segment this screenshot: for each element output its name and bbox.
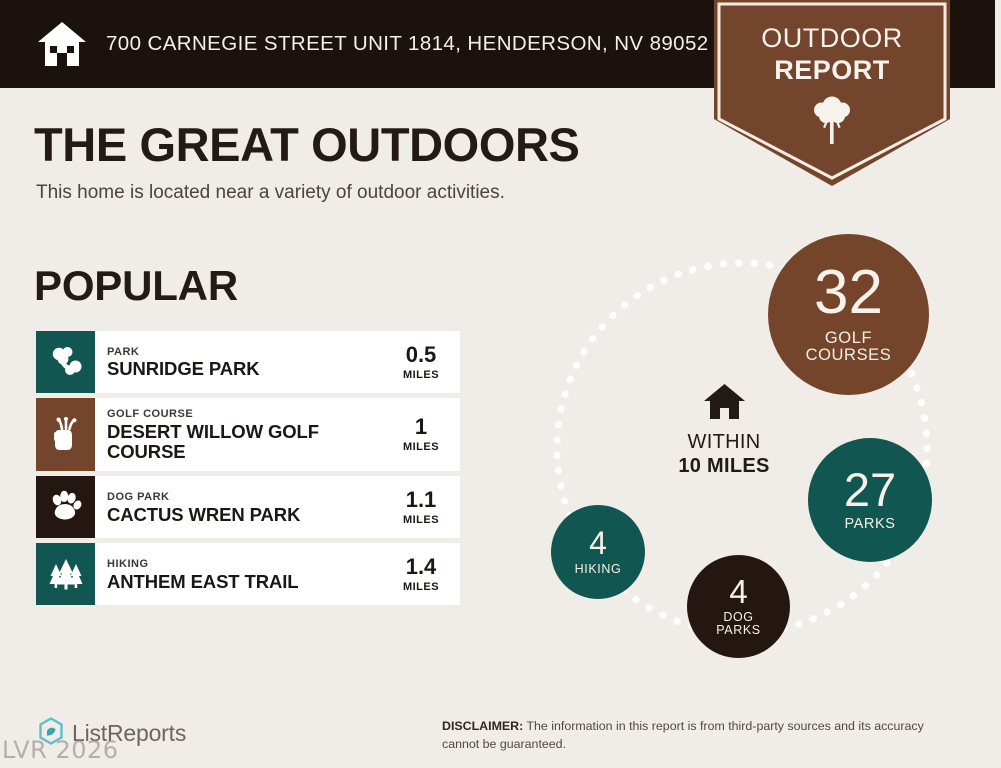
list-item[interactable]: PARK SUNRIDGE PARK 0.5 MILES [36,331,460,393]
list-item-distance: 1 MILES [388,398,460,471]
distance-unit: MILES [403,441,439,453]
bubble-dog-parks[interactable]: 4 DOG PARKS [687,555,790,658]
bubble-label: GOLF COURSES [806,330,892,365]
bubble-label: PARKS [844,517,895,532]
center-line-2: 10 MILES [654,455,794,478]
paw-print-icon [36,476,95,538]
home-icon [703,408,746,425]
popular-list: PARK SUNRIDGE PARK 0.5 MILES [36,331,460,610]
park-tree-icon [36,331,95,393]
distance-value: 1 [415,416,427,438]
bubble-label-line-2: COURSES [806,346,892,364]
distance-unit: MILES [403,369,439,381]
tree-icon [811,132,853,149]
bubble-label: HIKING [575,563,622,576]
list-item-distance: 1.4 MILES [388,543,460,605]
list-item-category: HIKING [107,558,380,571]
list-item-distance: 0.5 MILES [388,331,460,393]
distance-value: 0.5 [406,344,437,366]
page-title: THE GREAT OUTDOORS [34,121,580,168]
center-line-1: WITHIN [654,431,794,454]
disclaimer-label: DISCLAIMER: [442,719,523,733]
page-subtitle: This home is located near a variety of o… [36,182,505,204]
pine-trees-icon [36,543,95,605]
list-item-name: SUNRIDGE PARK [107,359,380,380]
bubble-value: 4 [589,528,607,558]
property-address: 700 CARNEGIE STREET UNIT 1814, HENDERSON… [106,32,709,56]
list-item-category: GOLF COURSE [107,408,380,421]
bubble-label-line-2: PARKS [716,623,760,637]
list-item-category: DOG PARK [107,491,380,504]
home-icon [36,20,88,68]
disclaimer: DISCLAIMER: The information in this repo… [442,718,962,753]
list-item-name: CACTUS WREN PARK [107,505,380,526]
header-content: 700 CARNEGIE STREET UNIT 1814, HENDERSON… [36,0,709,88]
bubble-golf-courses[interactable]: 32 GOLF COURSES [768,234,929,395]
bubble-value: 32 [814,264,883,323]
list-item-distance: 1.1 MILES [388,476,460,538]
watermark: LVR 2026 [2,736,119,764]
outdoor-report-badge: OUTDOOR REPORT [714,0,950,186]
popular-section-heading: POPULAR [34,265,238,307]
bubble-value: 4 [729,576,747,607]
list-item-name: DESERT WILLOW GOLF COURSE [107,422,380,463]
badge-line-1: OUTDOOR [714,23,950,54]
within-10-miles-chart: 32 GOLF COURSES 27 PARKS 4 HIKING 4 DOG … [520,220,990,680]
distance-value: 1.1 [406,489,437,511]
list-item[interactable]: HIKING ANTHEM EAST TRAIL 1.4 MILES [36,543,460,605]
bubble-value: 27 [844,468,896,513]
golf-bag-icon [36,398,95,471]
list-item[interactable]: GOLF COURSE DESERT WILLOW GOLF COURSE 1 … [36,398,460,471]
list-item-name: ANTHEM EAST TRAIL [107,572,380,593]
bubble-hiking[interactable]: 4 HIKING [551,505,645,599]
bubble-label: DOG PARKS [716,611,760,638]
distance-value: 1.4 [406,556,437,578]
distance-unit: MILES [403,581,439,593]
badge-line-2: REPORT [714,55,950,86]
chart-center-label: WITHIN 10 MILES [654,383,794,478]
distance-unit: MILES [403,514,439,526]
list-item[interactable]: DOG PARK CACTUS WREN PARK 1.1 MILES [36,476,460,538]
bubble-label-line-1: GOLF [825,329,872,347]
list-item-category: PARK [107,346,380,359]
bubble-parks[interactable]: 27 PARKS [808,438,932,562]
bubble-label-line-1: DOG [723,610,753,624]
